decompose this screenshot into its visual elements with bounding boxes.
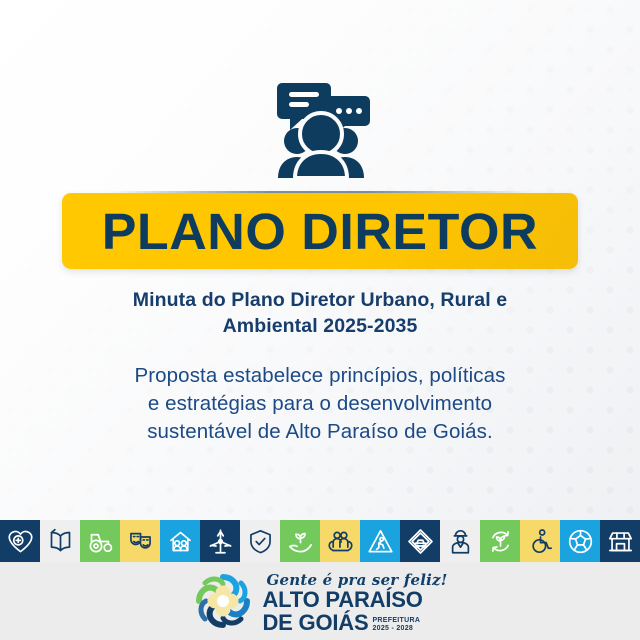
strip-cell-windmill-energy <box>200 520 240 562</box>
open-book-icon <box>47 528 74 555</box>
transit-vehicle-icon <box>407 528 434 555</box>
pedestrian-crossing-icon <box>367 528 394 555</box>
subtitle-line-1: Minuta do Plano Diretor Urbano, Rural e <box>60 288 580 314</box>
strip-cell-pedestrian-crossing <box>360 520 400 562</box>
strip-cell-recycling-leaf <box>480 520 520 562</box>
strip-cell-worker-person <box>440 520 480 562</box>
strip-cell-hand-plant <box>280 520 320 562</box>
strip-cell-open-book <box>40 520 80 562</box>
subtitle-line-2: Ambiental 2025-2035 <box>60 314 580 340</box>
logo-term-meta: PREFEITURA 2025 - 2028 <box>372 617 420 634</box>
hero-icon-container <box>0 78 640 178</box>
theater-masks-icon <box>127 528 154 555</box>
banner-title: PLANO DIRETOR <box>102 206 538 257</box>
recycling-leaf-icon <box>487 528 514 555</box>
strip-cell-social-care-hands <box>320 520 360 562</box>
logo-text-block: Gente é pra ser feliz! ALTO PARAÍSO DE G… <box>262 573 447 634</box>
city-logo: Gente é pra ser feliz! ALTO PARAÍSO DE G… <box>0 570 640 637</box>
market-stall-icon <box>607 528 634 555</box>
logo-slogan: Gente é pra ser feliz! <box>266 573 447 588</box>
worker-person-icon <box>447 528 474 555</box>
wheelchair-access-icon <box>527 528 554 555</box>
strip-cell-health-heart <box>0 520 40 562</box>
strip-cell-wheelchair-access <box>520 520 560 562</box>
people-speech-bubbles-icon <box>264 78 376 178</box>
health-heart-icon <box>7 528 34 555</box>
subtitle-block: Minuta do Plano Diretor Urbano, Rural e … <box>60 288 580 339</box>
shield-check-icon <box>247 528 274 555</box>
strip-cell-tractor <box>80 520 120 562</box>
poster-canvas: PLANO DIRETOR Minuta do Plano Diretor Ur… <box>0 0 640 640</box>
logo-meta-prefeitura: PREFEITURA <box>372 617 420 624</box>
family-home-icon <box>167 528 194 555</box>
soccer-ball-icon <box>567 528 594 555</box>
strip-cell-theater-masks <box>120 520 160 562</box>
plano-diretor-banner: PLANO DIRETOR <box>62 193 578 269</box>
department-icon-strip <box>0 520 640 562</box>
strip-cell-family-home <box>160 520 200 562</box>
body-line-3: sustentável de Alto Paraíso de Goiás. <box>55 418 585 446</box>
strip-cell-transit-vehicle <box>400 520 440 562</box>
footer-bar: Gente é pra ser feliz! ALTO PARAÍSO DE G… <box>0 562 640 640</box>
logo-meta-term: 2025 - 2028 <box>372 625 420 632</box>
strip-cell-soccer-ball <box>560 520 600 562</box>
alto-paraiso-flower-people-logo <box>192 570 254 637</box>
hand-plant-icon <box>287 528 314 555</box>
tractor-icon <box>87 528 114 555</box>
strip-cell-market-stall <box>600 520 640 562</box>
logo-city-line-2-row: DE GOIÁS PREFEITURA 2025 - 2028 <box>262 612 447 634</box>
windmill-energy-icon <box>207 528 234 555</box>
logo-city-line-1: ALTO PARAÍSO <box>262 589 447 611</box>
body-line-1: Proposta estabelece princípios, política… <box>55 362 585 390</box>
social-care-hands-icon <box>327 528 354 555</box>
strip-cell-shield-check <box>240 520 280 562</box>
logo-city-line-2: DE GOIÁS <box>262 612 368 634</box>
body-line-2: e estratégias para o desenvolvimento <box>55 390 585 418</box>
body-copy-block: Proposta estabelece princípios, política… <box>55 362 585 446</box>
